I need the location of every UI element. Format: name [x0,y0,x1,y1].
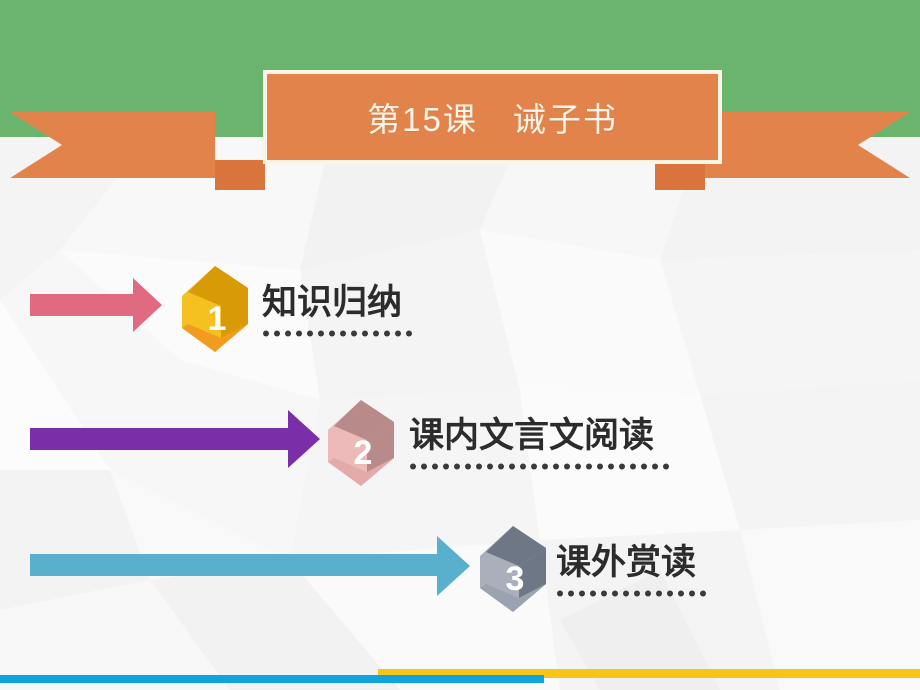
agenda-item-1[interactable]: 1 知识归纳 [0,258,920,368]
agenda-item-label: 课外赏读 [556,545,696,580]
ribbon-fold-right [655,160,705,190]
ribbon-tail-right [705,112,910,178]
ribbon-tail-left [10,112,215,178]
agenda-item-label: 知识归纳 [262,285,402,320]
dotted-underline [410,463,672,470]
footer-bar-cyan [0,675,544,683]
dotted-underline [263,330,418,337]
right-arrow-icon [0,392,330,502]
right-arrow-icon [0,258,175,368]
cube-icon: 3 [470,518,556,618]
slide-title: 第15课 诫子书 [265,72,720,162]
slide-canvas: 第15课 诫子书 1 知识归纳 [0,0,920,690]
cube-number: 2 [354,434,373,472]
agenda-item-label: 课内文言文阅读 [409,418,654,453]
agenda-item-3[interactable]: 3 课外赏读 [0,518,920,628]
agenda-item-2[interactable]: 2 课内文言文阅读 [0,392,920,502]
dotted-underline [557,590,715,597]
cube-icon: 1 [172,258,258,358]
cube-number: 1 [208,300,227,338]
cube-number: 3 [506,560,525,598]
ribbon-fold-left [215,160,265,190]
right-arrow-icon [0,518,480,628]
cube-icon: 2 [318,392,404,492]
